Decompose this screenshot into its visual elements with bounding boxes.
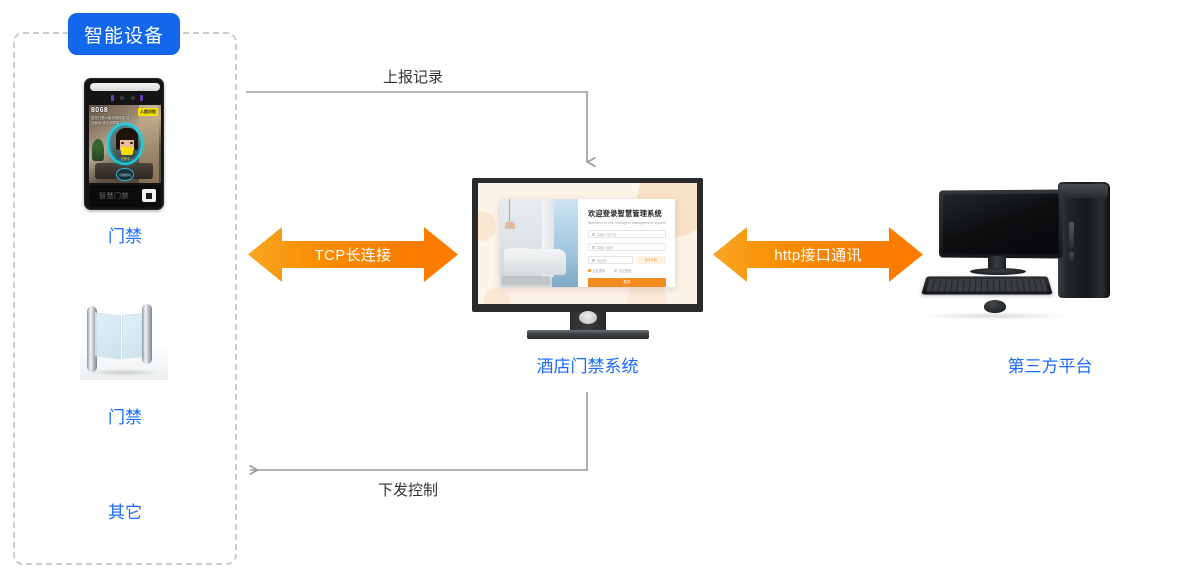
- face-terminal-device: 8068 智慧门禁人脸识别终端 欢迎使用 请正对屏幕 人脸识别 识别中… 识别成…: [84, 78, 164, 210]
- lock-icon: [592, 246, 595, 249]
- monitor-stand-base: [527, 330, 649, 339]
- monitor-bezel: 欢迎登录智慧管理系统 Welcome to the intelligent ma…: [472, 178, 703, 312]
- screen-blob-decor: [484, 288, 510, 304]
- device-label-other: 其它: [13, 498, 237, 523]
- terminal-face-chip: [121, 147, 133, 155]
- login-card: 欢迎登录智慧管理系统 Welcome to the intelligent ma…: [500, 199, 675, 287]
- login-subtitle: Welcome to the intelligent management sy…: [588, 221, 666, 225]
- forgot-password-link[interactable]: 忘记密码: [614, 268, 631, 273]
- connection-label-issue-control: 下发控制: [378, 479, 438, 500]
- checkbox-checked-icon: [588, 269, 591, 272]
- pc-monitor-foot: [970, 268, 1026, 275]
- http-interface-arrow: http接口通讯: [713, 226, 923, 283]
- pc-keyboard: [921, 276, 1053, 294]
- terminal-face-scan-ring: 识别中…: [107, 123, 143, 165]
- pc-tower: [1058, 182, 1110, 298]
- gate-glass-panel-left: [95, 312, 121, 359]
- monitor-screen: 欢迎登录智慧管理系统 Welcome to the intelligent ma…: [478, 183, 697, 304]
- radio-icon: [614, 269, 617, 272]
- terminal-face-hint: 识别中…: [111, 156, 143, 161]
- captcha-row: 验证码 3A4B: [588, 256, 666, 264]
- login-submit-button[interactable]: 登录: [588, 278, 666, 287]
- username-placeholder: 请输入用户名: [597, 232, 616, 237]
- node-label-hotel-access-system: 酒店门禁系统: [472, 352, 703, 377]
- device-label-turnstile-gate: 门禁: [13, 403, 237, 428]
- gate-post-right: [142, 304, 152, 364]
- login-title: 欢迎登录智慧管理系统: [588, 209, 666, 219]
- terminal-sensor-row: [85, 94, 164, 102]
- pc-monitor: [939, 190, 1063, 259]
- http-interface-label: http接口通讯: [774, 244, 861, 265]
- smart-device-group-badge: 智能设备: [68, 13, 180, 55]
- hotel-access-system-monitor: 欢迎登录智慧管理系统 Welcome to the intelligent ma…: [472, 178, 703, 343]
- captcha-placeholder: 验证码: [597, 258, 607, 263]
- login-options: 记住密码 忘记密码: [588, 268, 666, 273]
- turnstile-gate-device: [80, 302, 168, 380]
- terminal-speaker-bar: [90, 83, 160, 91]
- terminal-room-plant: [92, 139, 104, 161]
- connection-label-report-records: 上报记录: [383, 66, 443, 87]
- screen-blob-decor: [478, 211, 496, 241]
- hotel-room-photo: [500, 199, 578, 287]
- terminal-brand-logo: 智慧门禁: [99, 191, 129, 201]
- tcp-long-connection-label: TCP长连接: [315, 244, 392, 265]
- third-party-platform-pc: [906, 182, 1110, 322]
- login-form: 欢迎登录智慧管理系统 Welcome to the intelligent ma…: [578, 199, 675, 287]
- captcha-field[interactable]: 验证码: [588, 256, 633, 264]
- login-submit-label: 登录: [623, 280, 630, 285]
- smart-device-group-badge-label: 智能设备: [84, 21, 164, 48]
- diagram-canvas: 上报记录 下发控制 智能设备 8068 智慧门禁人脸识别终端 欢迎使用 请正对屏…: [0, 0, 1196, 580]
- gate-shadow: [84, 369, 162, 376]
- tcp-long-connection-arrow: TCP长连接: [248, 226, 458, 283]
- remember-me-checkbox[interactable]: 记住密码: [588, 268, 605, 273]
- node-label-third-party-platform: 第三方平台: [950, 352, 1150, 377]
- password-field[interactable]: 请输入密码: [588, 243, 666, 251]
- monitor-stand-neck: [570, 312, 606, 332]
- pc-shadow: [918, 312, 1068, 320]
- username-field[interactable]: 请输入用户名: [588, 230, 666, 238]
- captcha-image[interactable]: 3A4B: [636, 256, 666, 264]
- password-placeholder: 请输入密码: [597, 245, 613, 250]
- terminal-status-circle: 识别成功: [116, 168, 134, 181]
- pc-monitor-screen: [943, 194, 1059, 255]
- user-icon: [592, 233, 595, 236]
- forgot-password-label: 忘记密码: [619, 268, 632, 273]
- terminal-mode-badge: 人脸识别: [138, 108, 158, 116]
- device-label-face-terminal: 门禁: [13, 222, 237, 247]
- terminal-card-reader: [142, 189, 156, 202]
- terminal-device-id: 8068: [91, 107, 108, 114]
- remember-me-label: 记住密码: [593, 268, 606, 273]
- shield-icon: [592, 259, 595, 262]
